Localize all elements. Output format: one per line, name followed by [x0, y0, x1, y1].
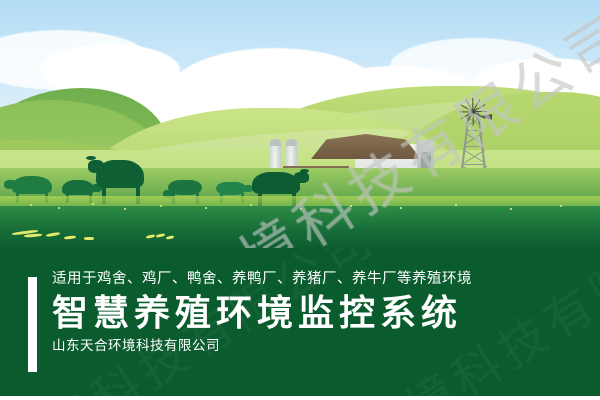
white-accent-bar	[28, 277, 37, 372]
windmill-crossbar	[465, 146, 482, 147]
company-name: 山东天合环境科技有限公司	[52, 340, 582, 354]
meadow-dark-foreground	[0, 206, 600, 250]
cow-horn	[300, 169, 309, 173]
title-bar: 环境科技有限公司 环境科技有限公司 适用于鸡舍、鸡厂、鸭舍、养鸭厂、养猪厂、养牛…	[0, 248, 600, 396]
farm-landscape-illustration: 环境科技有限公司	[0, 0, 600, 250]
grass-tuft	[84, 237, 94, 240]
product-banner: 环境科技有限公司 环境科技有限公司 环境科技有限公司 适用于鸡舍、鸡厂、鸭舍、养…	[0, 0, 600, 400]
grain-silo-cap	[286, 139, 297, 146]
flower-speck	[58, 207, 60, 209]
page-title: 智慧养殖环境监控系统	[52, 295, 582, 333]
flower-speck	[160, 205, 162, 207]
title-text-group: 适用于鸡舍、鸡厂、鸭舍、养鸭厂、养猪厂、养牛厂等养殖环境 智慧养殖环境监控系统 …	[52, 272, 582, 354]
bottom-white-strip	[0, 396, 600, 400]
flower-speck	[350, 205, 352, 207]
flower-speck	[124, 208, 126, 210]
flower-speck	[300, 208, 302, 210]
tagline: 适用于鸡舍、鸡厂、鸭舍、养鸭厂、养猪厂、养牛厂等养殖环境	[52, 272, 582, 287]
cloud-shape	[40, 44, 180, 96]
flower-speck	[455, 204, 457, 206]
windmill-crossbar	[463, 164, 485, 165]
flower-speck	[400, 207, 402, 209]
flower-speck	[250, 204, 252, 206]
cow-head	[294, 172, 309, 183]
cow-silhouette-large	[252, 172, 300, 194]
flower-speck	[92, 203, 94, 205]
flower-speck	[30, 204, 32, 206]
flower-speck	[560, 205, 562, 207]
cow-horn	[86, 156, 96, 160]
cow-head	[4, 180, 17, 189]
windmill-crossbar	[467, 130, 479, 131]
flower-speck	[510, 208, 512, 210]
cow-head	[88, 160, 104, 173]
flower-speck	[205, 207, 207, 209]
grain-silo-cap	[270, 139, 281, 146]
